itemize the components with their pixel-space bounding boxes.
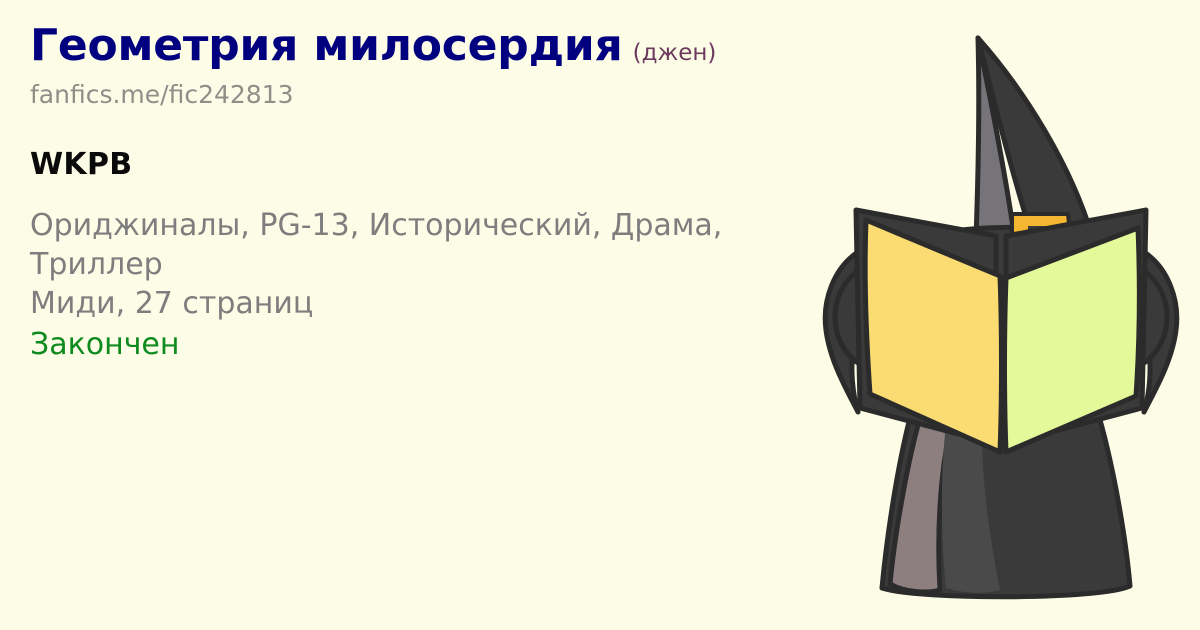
metadata-size: Миди, 27 страниц [30, 284, 800, 323]
witch-reading-book-illustration [800, 0, 1200, 630]
author-name: WKPB [30, 147, 820, 182]
preview-card: Геометрия милосердия(джен) fanfics.me/fi… [0, 0, 1200, 630]
page-title: Геометрия милосердия [30, 20, 623, 71]
pairing-label: (джен) [633, 40, 717, 66]
source-url: fanfics.me/fic242813 [30, 80, 820, 109]
text-column: Геометрия милосердия(джен) fanfics.me/fi… [30, 24, 820, 364]
metadata-block: Ориджиналы, PG-13, Исторический, Драма, … [30, 206, 820, 364]
metadata-genres: Ориджиналы, PG-13, Исторический, Драма, … [30, 206, 800, 284]
title-row: Геометрия милосердия(джен) [30, 24, 820, 68]
status-badge: Закончен [30, 325, 820, 364]
